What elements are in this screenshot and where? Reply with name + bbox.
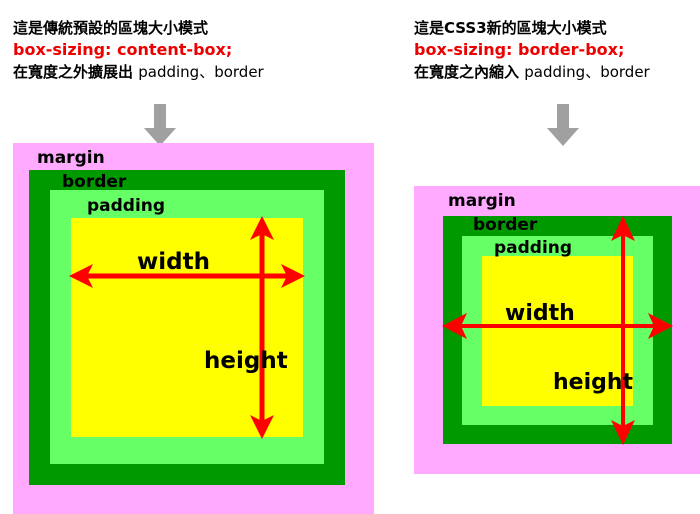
right-down-arrow-icon <box>546 104 580 146</box>
left-caption-line-1: 這是傳統預設的區塊大小模式 <box>13 18 264 39</box>
left-caption-line-3-plain: padding、border <box>138 63 263 81</box>
right-height-label: height <box>553 372 633 394</box>
right-caption-line-3: 在寬度之內縮入 padding、border <box>414 62 650 83</box>
right-caption-line-3-plain: padding、border <box>524 63 649 81</box>
left-caption-code: box-sizing: content-box; <box>13 39 264 62</box>
left-caption-line-3-bold: 在寬度之外擴展出 <box>13 63 133 81</box>
right-caption-code: box-sizing: border-box; <box>414 39 650 62</box>
right-caption-line-1: 這是CSS3新的區塊大小模式 <box>414 18 650 39</box>
left-down-arrow-icon <box>143 104 177 146</box>
left-width-label: width <box>137 251 210 274</box>
left-margin-label: margin <box>37 150 105 167</box>
right-width-label: width <box>505 303 575 325</box>
right-margin-label: margin <box>448 193 516 210</box>
left-caption-block: 這是傳統預設的區塊大小模式 box-sizing: content-box; 在… <box>13 18 264 83</box>
left-padding-label: padding <box>87 198 165 215</box>
right-border-label: border <box>473 217 537 234</box>
right-caption-block: 這是CSS3新的區塊大小模式 box-sizing: border-box; 在… <box>414 18 650 83</box>
left-border-label: border <box>62 174 126 191</box>
right-padding-label: padding <box>494 240 572 257</box>
right-caption-line-3-bold: 在寬度之內縮入 <box>414 63 519 81</box>
left-height-label: height <box>204 350 288 373</box>
left-caption-line-3: 在寬度之外擴展出 padding、border <box>13 62 264 83</box>
